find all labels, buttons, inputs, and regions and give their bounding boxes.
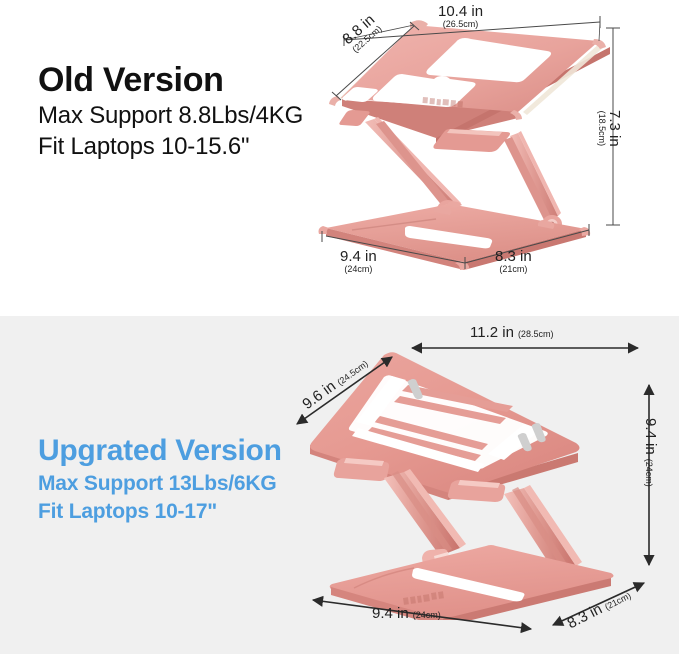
old-dim-top-width: 10.4 in (26.5cm) — [438, 4, 483, 29]
upgraded-version-text-block: Upgrated Version Max Support 13Lbs/6KG F… — [38, 432, 282, 526]
upgraded-dim-base-width: 9.4 in (24cm) — [372, 606, 441, 622]
old-version-stand-illustration — [318, 14, 618, 279]
old-version-max-support: Max Support 8.8Lbs/4KG — [38, 100, 303, 131]
old-version-title: Old Version — [38, 60, 303, 100]
old-version-fit-laptops: Fit Laptops 10-15.6" — [38, 131, 303, 162]
upgraded-version-fit-laptops: Fit Laptops 10-17" — [38, 498, 282, 526]
old-version-text-block: Old Version Max Support 8.8Lbs/4KG Fit L… — [38, 60, 303, 162]
product-comparison-image: Old Version Max Support 8.8Lbs/4KG Fit L… — [0, 0, 679, 654]
old-dim-base-depth: 8.3 in (21cm) — [495, 249, 532, 274]
upgraded-dim-height: 9.4 in (24cm) — [642, 418, 658, 487]
old-leg-back-right — [510, 133, 558, 219]
upgraded-dim-top-width: 11.2 in (28.5cm) — [470, 325, 553, 341]
upgraded-version-title: Upgrated Version — [38, 432, 282, 470]
upgraded-version-max-support: Max Support 13Lbs/6KG — [38, 470, 282, 498]
old-dim-base-width: 9.4 in (24cm) — [340, 249, 377, 274]
old-dim-height: 7.3 in (18.5cm) — [597, 110, 622, 147]
